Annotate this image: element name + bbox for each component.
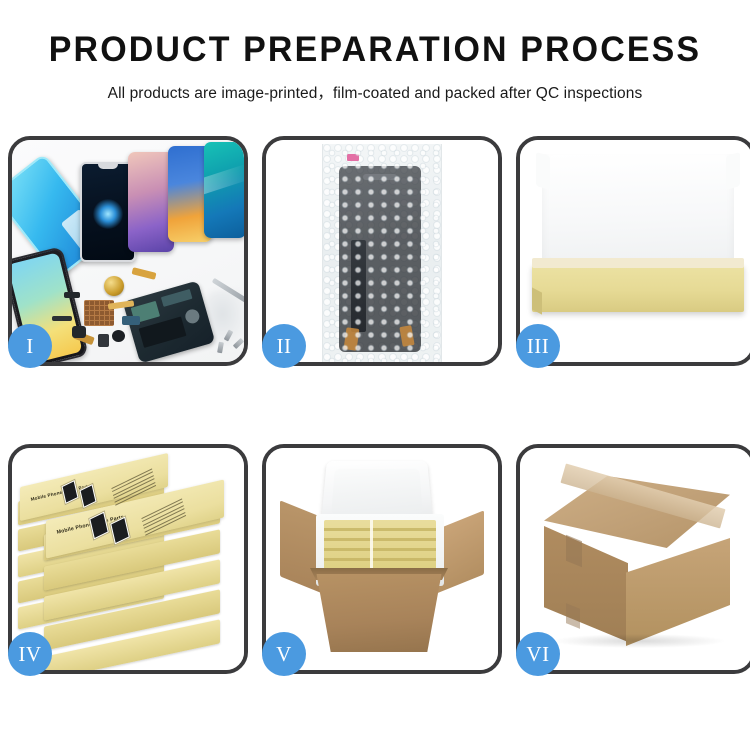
step-6-image	[520, 448, 750, 670]
sealed-carton-right-face	[626, 538, 730, 646]
step-4-image: Mobile Phone Spare Parts Mobile Phone Sp…	[12, 448, 244, 670]
step-badge-3: III	[516, 324, 560, 368]
step-badge-5: V	[262, 632, 306, 676]
kraft-boxes-inside	[324, 520, 436, 574]
page-subtitle: All products are image-printed，film-coat…	[0, 81, 750, 103]
sealed-carton-left-face	[544, 526, 628, 642]
process-step-grid: I II III	[8, 136, 742, 674]
step-1-image	[12, 140, 244, 362]
lcd-connector-tab	[344, 327, 360, 351]
lcd-flex-cable	[351, 240, 366, 332]
carton-tape-tab	[566, 603, 580, 629]
connector-part	[52, 316, 72, 321]
page-title: PRODUCT PREPARATION PROCESS	[11, 32, 739, 69]
connector-part	[64, 292, 80, 298]
process-step-4: Mobile Phone Spare Parts Mobile Phone Sp…	[8, 444, 248, 674]
step-2-image	[266, 140, 498, 362]
connector-part	[98, 334, 109, 347]
step-badge-2: II	[262, 324, 306, 368]
lcd-screen-assembly	[339, 166, 421, 352]
teal-gradient-phone	[204, 142, 244, 238]
step-3-image	[520, 140, 750, 362]
bubble-wrap-bag	[322, 144, 442, 362]
step-badge-1: I	[8, 324, 52, 368]
white-foam-liner	[542, 154, 734, 272]
step-badge-4: IV	[8, 632, 52, 676]
pink-qc-label	[347, 154, 359, 161]
carton-front-face	[308, 574, 450, 652]
header: PRODUCT PREPARATION PROCESS All products…	[0, 0, 750, 103]
flex-cable-part	[132, 267, 157, 280]
step-5-image	[266, 448, 498, 670]
process-step-2: II	[262, 136, 502, 366]
camera-module-part	[122, 316, 140, 325]
step-badge-6: VI	[516, 632, 560, 676]
stacked-retail-boxes: Mobile Phone Spare Parts Mobile Phone Sp…	[16, 464, 244, 670]
product-preparation-infographic: PRODUCT PREPARATION PROCESS All products…	[0, 0, 750, 750]
kraft-box-base	[532, 264, 744, 312]
process-step-5: V	[262, 444, 502, 674]
gold-coil-part	[104, 276, 124, 296]
speaker-part	[112, 330, 125, 342]
kraft-box-side-flap	[532, 287, 542, 314]
process-step-3: III	[516, 136, 750, 366]
process-step-6: VI	[516, 444, 750, 674]
lcd-connector-tab	[399, 325, 414, 347]
connector-part	[72, 326, 86, 338]
screwdriver-bit	[217, 342, 224, 354]
process-step-1: I	[8, 136, 248, 366]
carton-shadow	[554, 634, 724, 648]
